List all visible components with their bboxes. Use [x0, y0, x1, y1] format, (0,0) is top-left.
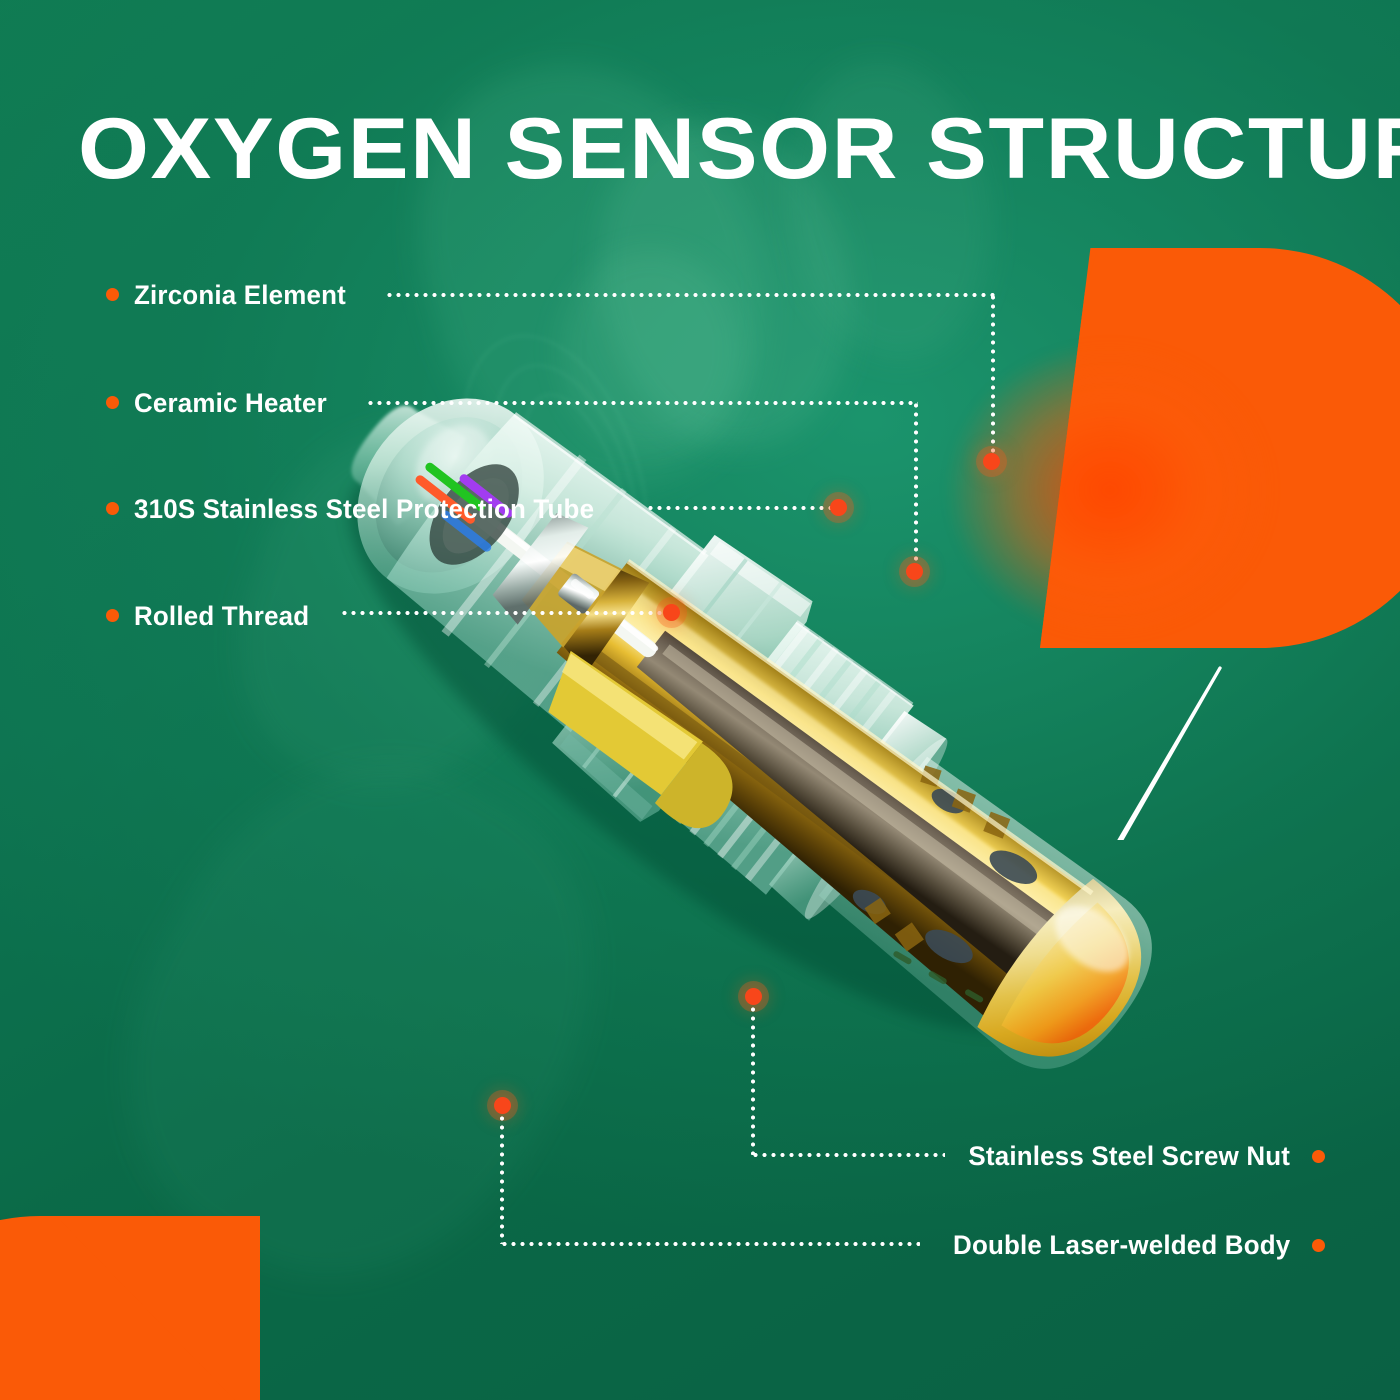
callout-label-zirconia-element[interactable]: Zirconia Element [134, 280, 346, 311]
callout-label-protection-tube[interactable]: 310S Stainless Steel Protection Tube [134, 494, 594, 525]
leader-line-protection-tube [646, 506, 836, 510]
heat-glow [900, 300, 1320, 680]
leader-line-zirconia-element [385, 293, 995, 297]
hotspot-screw-nut[interactable] [745, 988, 762, 1005]
background-ghost-shape [48, 690, 672, 1350]
leader-line-ceramic-heater [366, 401, 918, 405]
leader-line-screw-nut [751, 1153, 945, 1157]
bullet-icon [106, 502, 119, 515]
bullet-icon [106, 609, 119, 622]
leader-line-zirconia-element-vertical [991, 293, 995, 463]
hotspot-rolled-thread[interactable] [663, 604, 680, 621]
bullet-icon [1312, 1150, 1325, 1163]
hotspot-zirconia-element[interactable] [983, 453, 1000, 470]
infographic-canvas: OXYGEN SENSOR STRUCTURE Zirconia Element… [0, 0, 1400, 1400]
hotspot-ceramic-heater[interactable] [906, 563, 923, 580]
hotspot-laser-welded-body[interactable] [494, 1097, 511, 1114]
callout-label-screw-nut[interactable]: Stainless Steel Screw Nut [968, 1141, 1290, 1172]
background-ghost-shape [560, 250, 740, 450]
orange-blob-top-right [1040, 248, 1400, 648]
background-ghost-shape [377, 23, 813, 527]
page-title: OXYGEN SENSOR STRUCTURE [78, 106, 1400, 192]
leader-line-screw-nut-vertical [751, 1005, 755, 1155]
callout-label-rolled-thread[interactable]: Rolled Thread [134, 601, 309, 632]
leader-line-ceramic-heater-vertical [914, 401, 918, 573]
white-accent-line [1080, 620, 1400, 840]
callout-label-ceramic-heater[interactable]: Ceramic Heater [134, 388, 327, 419]
background-ghost-ring [428, 311, 682, 649]
leader-line-rolled-thread [340, 611, 670, 615]
background-ghost-ring [465, 346, 666, 624]
leader-line-laser-welded-body [500, 1242, 920, 1246]
hotspot-protection-tube[interactable] [830, 499, 847, 516]
background-ghost-shape [770, 48, 1010, 373]
bullet-icon [106, 288, 119, 301]
oxygen-sensor-render [250, 280, 1250, 1180]
background-ghost-ring [501, 381, 648, 599]
bullet-icon [1312, 1239, 1325, 1252]
callout-label-laser-welded-body[interactable]: Double Laser-welded Body [953, 1230, 1290, 1261]
bullet-icon [106, 396, 119, 409]
leader-line-laser-welded-body-vertical [500, 1114, 504, 1244]
orange-blob-bottom-left [0, 1216, 260, 1400]
